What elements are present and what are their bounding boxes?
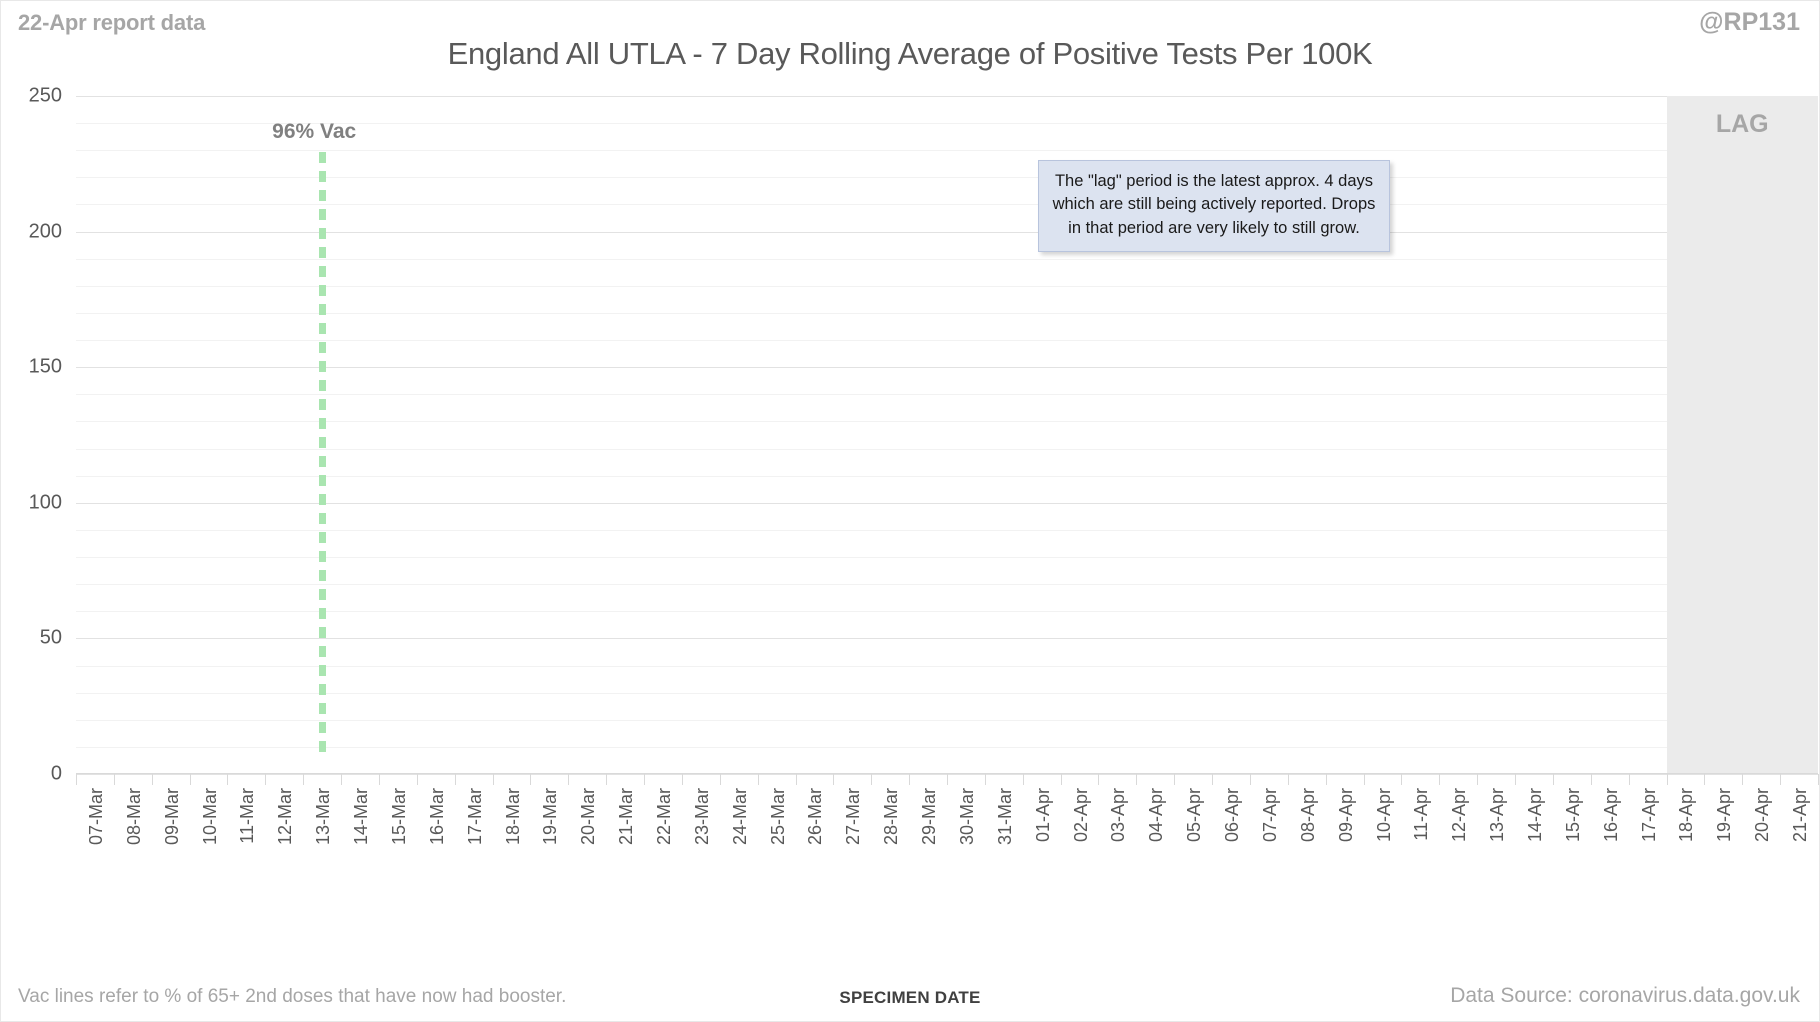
x-axis-tick-label: 21-Apr (1790, 788, 1811, 842)
x-axis-tickmark (568, 774, 569, 785)
vaccination-marker-line (319, 152, 326, 756)
report-date-tag: 22-Apr report data (18, 10, 205, 36)
x-axis-tickmark (1326, 774, 1327, 785)
x-axis-tick-label: 04-Apr (1146, 788, 1167, 842)
x-axis-tick-label: 13-Mar (313, 788, 334, 845)
x-axis-tick-label: 05-Apr (1184, 788, 1205, 842)
x-axis-tick-label: 11-Mar (237, 788, 258, 844)
x-axis-tick-label: 17-Apr (1639, 788, 1660, 842)
x-axis-tickmark (1288, 774, 1289, 785)
x-axis-tick-label: 11-Apr (1411, 788, 1432, 841)
x-axis-tickmark (1742, 774, 1743, 785)
x-axis-tickmark (114, 774, 115, 785)
x-axis-tick-label: 14-Mar (351, 788, 372, 845)
x-axis-tickmark (644, 774, 645, 785)
x-axis-tick-label: 18-Mar (503, 788, 524, 845)
x-axis-tick-label: 07-Apr (1260, 788, 1281, 842)
x-axis-tickmark (1401, 774, 1402, 785)
x-axis-tickmark (76, 774, 77, 785)
gridline (76, 693, 1818, 694)
x-axis-tick-label: 28-Mar (881, 788, 902, 845)
gridline (76, 530, 1818, 531)
gridline (76, 340, 1818, 341)
x-axis-tickmark (455, 774, 456, 785)
x-axis-tickmark (190, 774, 191, 785)
x-axis-tick-label: 26-Mar (805, 788, 826, 845)
x-axis-tickmark (796, 774, 797, 785)
x-axis-tickmark (1667, 774, 1668, 785)
gridline (76, 666, 1818, 667)
x-axis-tickmark (303, 774, 304, 785)
gridline (76, 286, 1818, 287)
gridline (76, 638, 1818, 639)
x-axis-tickmark (682, 774, 683, 785)
gridline (76, 394, 1818, 395)
x-axis-tick-label: 22-Mar (654, 788, 675, 845)
gridline (76, 313, 1818, 314)
x-axis-tickmark (1061, 774, 1062, 785)
x-axis-tick-label: 19-Apr (1714, 788, 1735, 842)
x-axis-tick-label: 21-Mar (616, 788, 637, 845)
gridline (76, 449, 1818, 450)
x-axis-tick-label: 02-Apr (1071, 788, 1092, 842)
x-axis-tick-label: 23-Mar (692, 788, 713, 845)
x-axis-tickmark (1704, 774, 1705, 785)
gridline (76, 720, 1818, 721)
x-axis-tickmark (1136, 774, 1137, 785)
x-axis-tick-label: 10-Mar (200, 788, 221, 845)
lag-label: LAG (1667, 110, 1818, 139)
gridline (76, 367, 1818, 368)
x-axis-tick-label: 06-Apr (1222, 788, 1243, 842)
x-axis-tick-label: 03-Apr (1108, 788, 1129, 842)
gridline (76, 611, 1818, 612)
x-axis-tickmark (493, 774, 494, 785)
x-axis-tick-label: 30-Mar (957, 788, 978, 845)
x-axis-tick-label: 16-Mar (427, 788, 448, 845)
x-axis-tick-label: 15-Mar (389, 788, 410, 845)
x-axis-tick-label: 19-Mar (540, 788, 561, 845)
x-axis-tick-label: 25-Mar (768, 788, 789, 845)
x-axis-tickmark (227, 774, 228, 785)
x-axis-tickmark (1477, 774, 1478, 785)
x-axis-tickmark (1174, 774, 1175, 785)
gridline (76, 421, 1818, 422)
x-axis-tickmark (530, 774, 531, 785)
x-axis-tick-label: 08-Mar (124, 788, 145, 845)
x-axis-tickmark (1780, 774, 1781, 785)
x-axis-tick-label: 29-Mar (919, 788, 940, 845)
x-axis-tickmark (1023, 774, 1024, 785)
x-axis-tickmark (833, 774, 834, 785)
page-title: England All UTLA - 7 Day Rolling Average… (0, 36, 1820, 72)
x-axis-tick-label: 16-Apr (1601, 788, 1622, 842)
y-axis-tick-label: 50 (40, 627, 62, 650)
x-axis-tick-label: 01-Apr (1033, 788, 1054, 842)
gridline (76, 232, 1818, 233)
lag-shaded-region: LAG (1667, 96, 1818, 774)
y-axis-tick-label: 150 (29, 356, 62, 379)
x-axis-tick-label: 10-Apr (1374, 788, 1395, 842)
x-axis-tickmark (1591, 774, 1592, 785)
x-axis-tick-label: 07-Mar (86, 788, 107, 845)
lag-explanation-callout: The "lag" period is the latest approx. 4… (1038, 160, 1390, 252)
x-axis-tick-label: 20-Mar (578, 788, 599, 845)
x-axis-tick-label: 08-Apr (1298, 788, 1319, 842)
x-axis-tickmark (379, 774, 380, 785)
gridline (76, 150, 1818, 151)
plot-area: LAG (76, 96, 1818, 774)
gridline (76, 503, 1818, 504)
x-axis-tick-label: 12-Apr (1449, 788, 1470, 842)
x-axis-tickmark (1818, 774, 1819, 785)
x-axis-tick-label: 12-Mar (275, 788, 296, 845)
x-axis-tickmark (265, 774, 266, 785)
y-axis-tick-label: 200 (29, 220, 62, 243)
author-watermark: @RP131 (1699, 8, 1800, 37)
x-axis-tick-label: 09-Apr (1336, 788, 1357, 842)
gridline (76, 584, 1818, 585)
x-axis-tick-label: 09-Mar (162, 788, 183, 845)
x-axis-tickmark (1212, 774, 1213, 785)
x-axis-tickmark (152, 774, 153, 785)
x-axis-tick-label: 15-Apr (1563, 788, 1584, 842)
gridline (76, 204, 1818, 205)
x-axis-tickmark (1439, 774, 1440, 785)
x-axis-tick-label: 13-Apr (1487, 788, 1508, 842)
x-axis-tickmark (1364, 774, 1365, 785)
x-axis-tickmark (1250, 774, 1251, 785)
x-axis-tickmark (871, 774, 872, 785)
gridline (76, 476, 1818, 477)
x-axis-tickmark (1553, 774, 1554, 785)
x-axis-tickmark (1629, 774, 1630, 785)
gridline (76, 747, 1818, 748)
plot-background (76, 96, 1818, 774)
footnote-data-source: Data Source: coronavirus.data.gov.uk (1450, 984, 1800, 1008)
y-axis-tick-label: 0 (51, 763, 62, 786)
x-axis-tickmark (985, 774, 986, 785)
y-axis: 050100150200250 (0, 96, 76, 774)
x-axis-tick-label: 20-Apr (1752, 788, 1773, 842)
x-axis-tickmark (1515, 774, 1516, 785)
x-axis-tick-label: 14-Apr (1525, 788, 1546, 842)
x-axis-tick-label: 17-Mar (465, 788, 486, 845)
x-axis-tick-label: 18-Apr (1676, 788, 1697, 842)
y-axis-tick-label: 100 (29, 491, 62, 514)
x-axis-tickmark (720, 774, 721, 785)
x-axis-labels: 07-Mar08-Mar09-Mar10-Mar11-Mar12-Mar13-M… (76, 788, 1818, 884)
gridline (76, 557, 1818, 558)
x-axis-tickmark (758, 774, 759, 785)
x-axis-tickmark (417, 774, 418, 785)
x-axis-tick-label: 31-Mar (995, 788, 1016, 845)
x-axis-tickmark (947, 774, 948, 785)
gridline (76, 177, 1818, 178)
vaccination-marker-label: 96% Vac (272, 120, 356, 144)
gridline (76, 96, 1818, 97)
gridline (76, 259, 1818, 260)
x-axis-tickmark (1098, 774, 1099, 785)
x-axis-tickmark (909, 774, 910, 785)
x-axis-tick-label: 27-Mar (843, 788, 864, 845)
x-axis-tickmark (606, 774, 607, 785)
y-axis-tick-label: 250 (29, 85, 62, 108)
x-axis-tickmark (341, 774, 342, 785)
x-axis-tick-label: 24-Mar (730, 788, 751, 845)
